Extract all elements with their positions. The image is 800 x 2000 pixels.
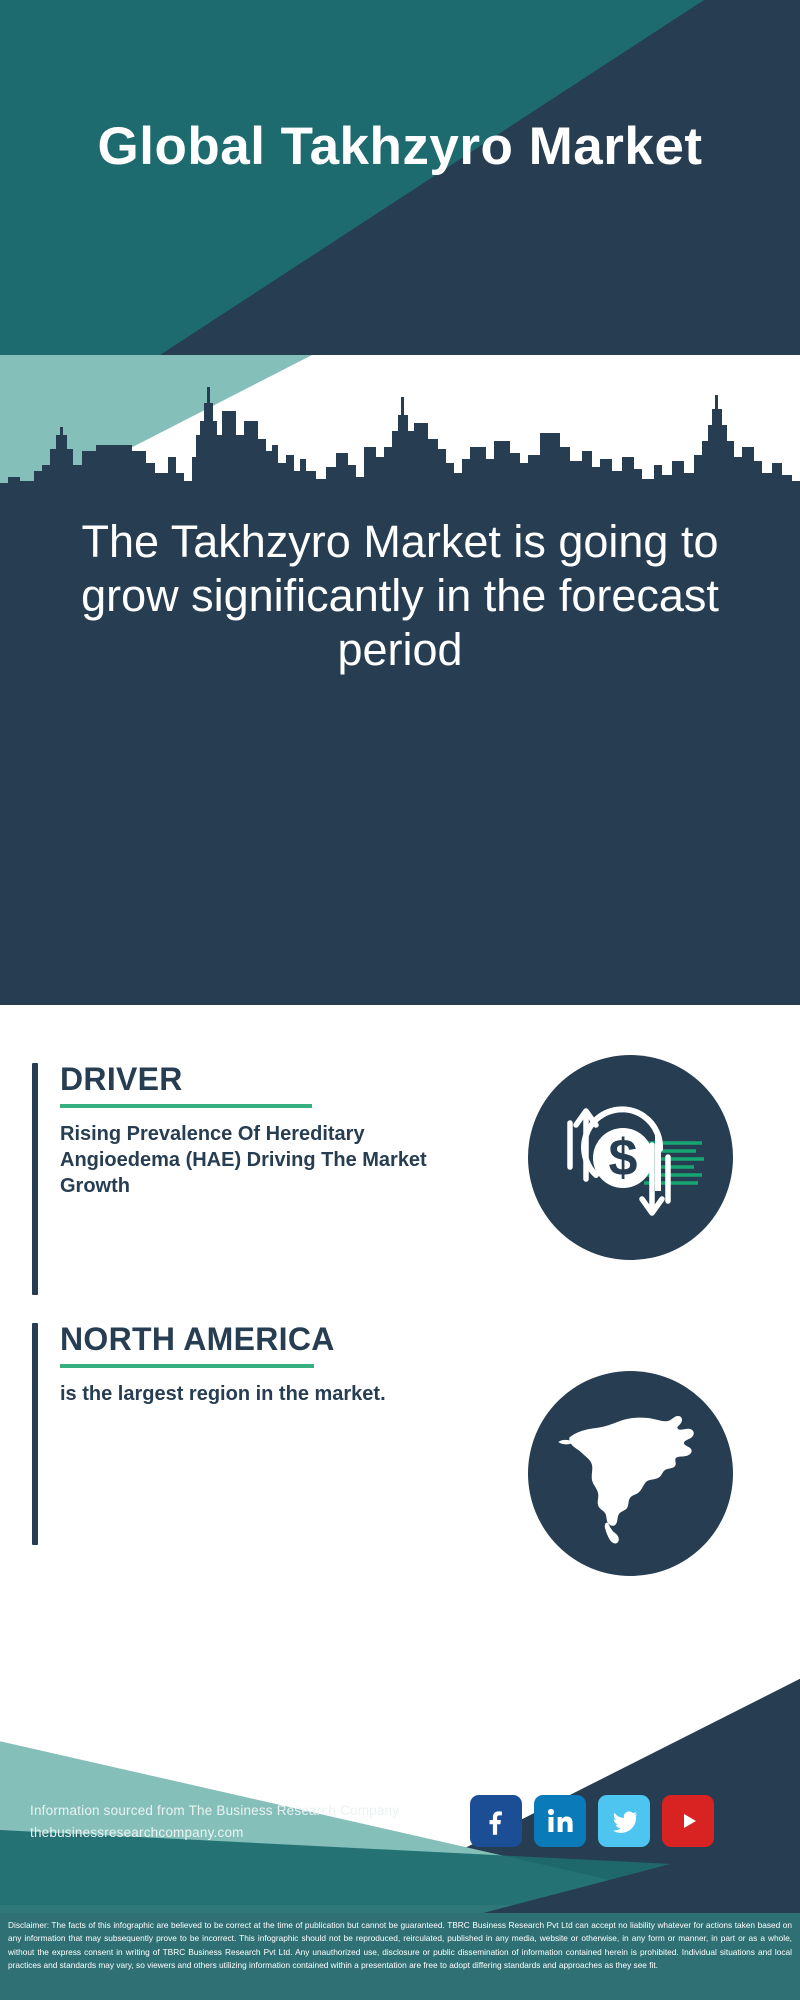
north-america-map-icon xyxy=(528,1371,733,1576)
fact-heading: DRIVER xyxy=(60,1063,183,1097)
fact-underline xyxy=(60,1364,314,1368)
source-website[interactable]: thebusinessresearchcompany.com xyxy=(30,1822,450,1844)
youtube-icon[interactable] xyxy=(662,1795,714,1847)
facebook-icon[interactable] xyxy=(470,1795,522,1847)
page-title: Global Takhzyro Market xyxy=(0,0,800,355)
infographic-page: Global Takhzyro Market The Takhzyro Mark… xyxy=(0,0,800,2000)
fact-card-north-america: NORTH AMERICA is the largest region in t… xyxy=(32,1323,452,1545)
source-credit: Information sourced from The Business Re… xyxy=(30,1800,450,1845)
dollar-growth-glyph: $ xyxy=(556,1083,706,1233)
social-links xyxy=(470,1795,714,1847)
city-skyline-silhouette xyxy=(0,385,800,495)
linkedin-icon[interactable] xyxy=(534,1795,586,1847)
source-line-1: Information sourced from The Business Re… xyxy=(30,1800,450,1822)
dollar-growth-icon: $ xyxy=(528,1055,733,1260)
header-banner: Global Takhzyro Market xyxy=(0,0,800,355)
fact-heading: NORTH AMERICA xyxy=(60,1323,335,1357)
fact-card-driver: DRIVER Rising Prevalence Of Hereditary A… xyxy=(32,1063,432,1295)
fact-accent-bar xyxy=(32,1323,38,1545)
north-america-map-glyph xyxy=(548,1391,713,1556)
hero-headline: The Takhzyro Market is going to grow sig… xyxy=(0,515,800,677)
svg-text:$: $ xyxy=(608,1129,637,1187)
facts-section: DRIVER Rising Prevalence Of Hereditary A… xyxy=(0,1005,800,1645)
fact-underline xyxy=(60,1104,312,1108)
disclaimer-text: Disclaimer: The facts of this infographi… xyxy=(0,1913,800,2000)
twitter-icon[interactable] xyxy=(598,1795,650,1847)
hero-section: The Takhzyro Market is going to grow sig… xyxy=(0,355,800,1005)
fact-accent-bar xyxy=(32,1063,38,1295)
fact-body: is the largest region in the market. xyxy=(60,1381,452,1407)
fact-body: Rising Prevalence Of Hereditary Angioede… xyxy=(60,1121,432,1200)
